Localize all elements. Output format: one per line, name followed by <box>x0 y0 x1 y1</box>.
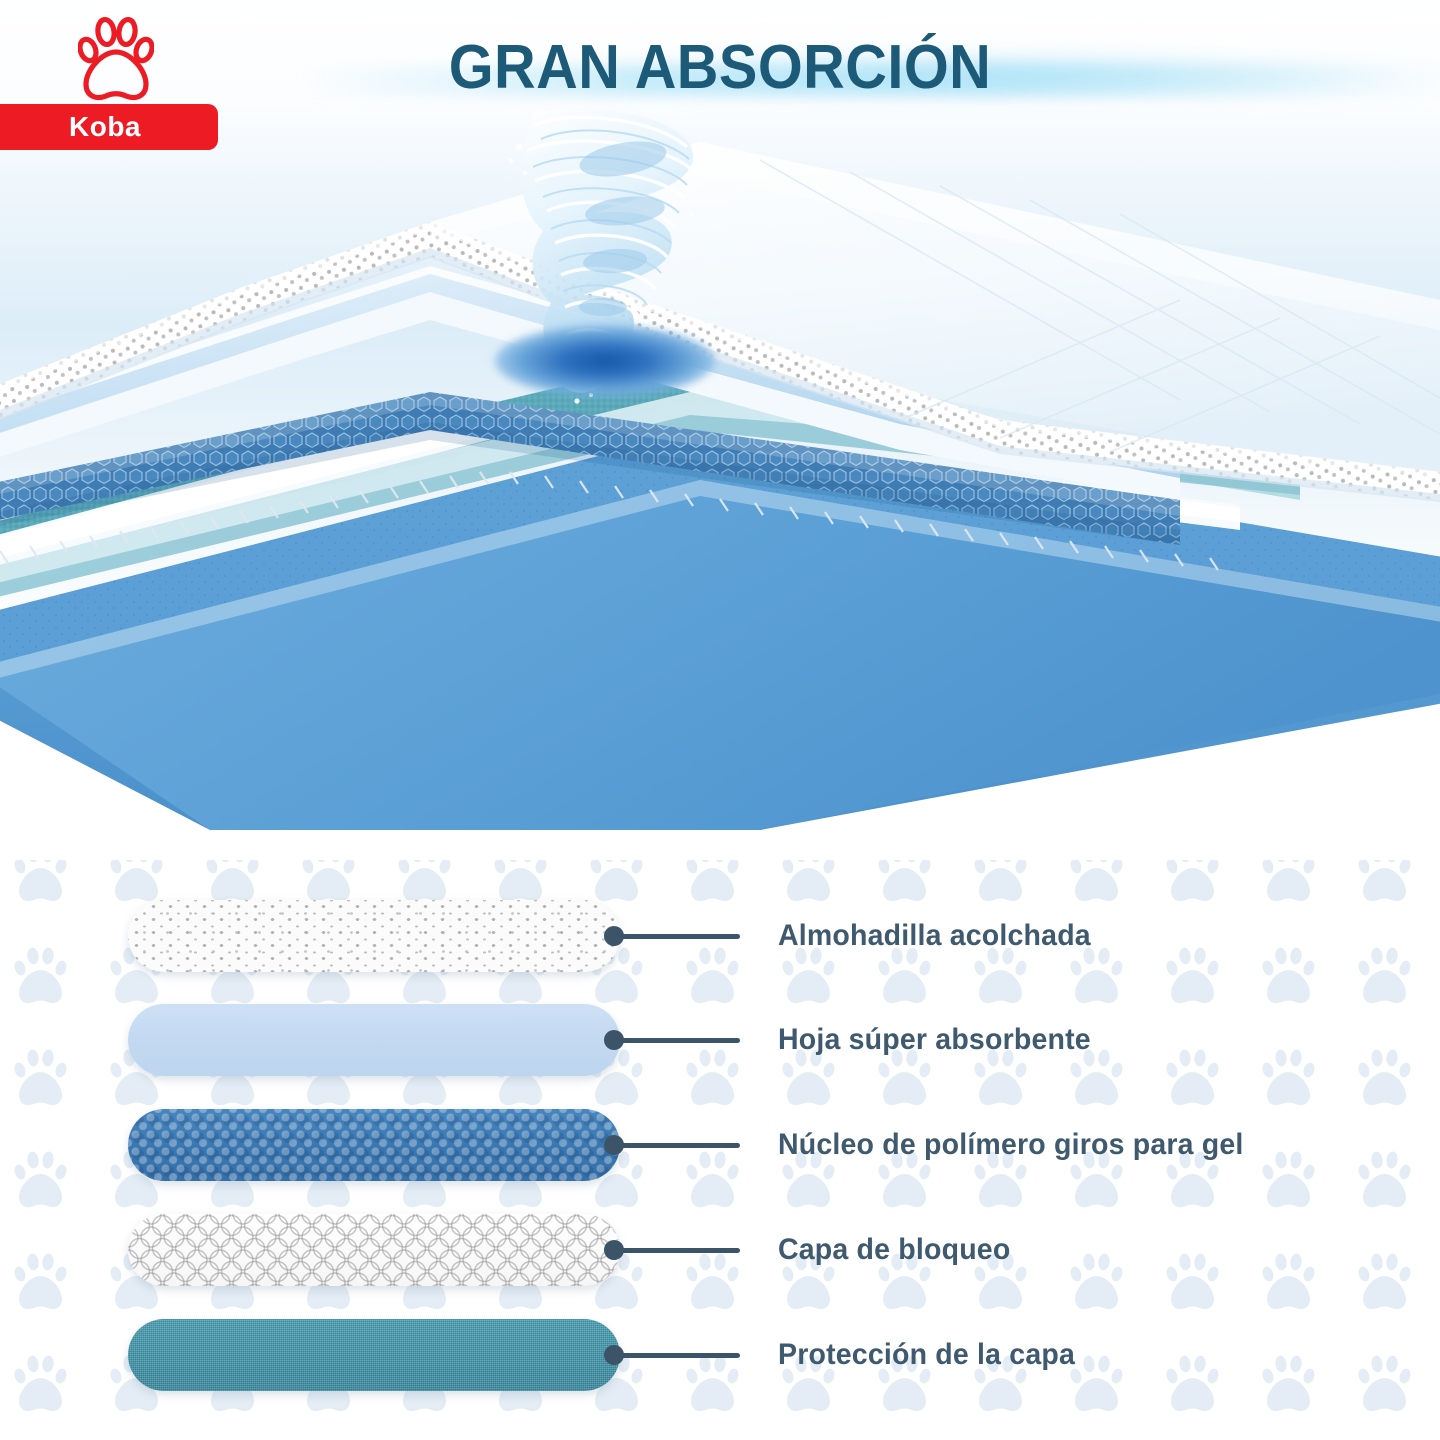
brand-badge: Koba <box>0 104 218 150</box>
legend-row: Capa de bloqueo <box>0 1210 1440 1290</box>
paw-print-icon <box>78 12 154 108</box>
brand-name: Koba <box>69 111 141 143</box>
legend-label-1: Almohadilla acolchada <box>778 910 1091 962</box>
legend-row: Núcleo de polímero giros para gel <box>0 1105 1440 1185</box>
legend-row: Protección de la capa <box>0 1315 1440 1395</box>
quilted-dotted-swatch[interactable] <box>128 900 620 972</box>
layer-legend: Almohadilla acolchada Hoja súper absorbe… <box>0 860 1440 1440</box>
connector-line <box>618 1143 740 1148</box>
legend-label-3: Núcleo de polímero giros para gel <box>778 1119 1244 1171</box>
protection-layer-swatch[interactable] <box>128 1319 620 1391</box>
legend-label-5: Protección de la capa <box>778 1329 1075 1381</box>
connector-line <box>618 1353 740 1358</box>
connector-line <box>618 1248 740 1253</box>
absorbent-sheet-swatch[interactable] <box>128 1004 620 1076</box>
brand-logo[interactable]: Koba <box>0 12 218 144</box>
legend-label-2: Hoja súper absorbente <box>778 1014 1091 1066</box>
legend-row: Hoja súper absorbente <box>0 1000 1440 1080</box>
polymer-core-swatch[interactable] <box>128 1109 620 1181</box>
legend-row: Almohadilla acolchada <box>0 896 1440 976</box>
connector-line <box>618 934 740 939</box>
page-title: GRAN ABSORCIÓN <box>50 32 1389 103</box>
legend-label-4: Capa de bloqueo <box>778 1224 1010 1276</box>
infographic-page: GRAN ABSORCIÓN Koba Almohadilla acolchad… <box>0 0 1440 1440</box>
blocking-layer-swatch[interactable] <box>128 1214 620 1286</box>
connector-line <box>618 1038 740 1043</box>
